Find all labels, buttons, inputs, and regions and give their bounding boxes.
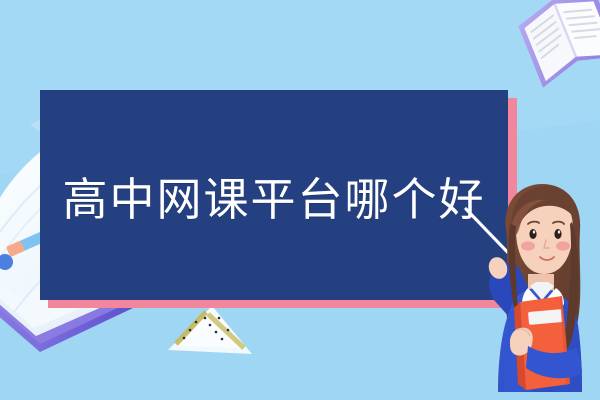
eye-right (554, 229, 561, 239)
poster-banner: 高中网课平台哪个好 (0, 0, 600, 400)
eye-left-glint (533, 230, 535, 233)
cheek-left (521, 241, 535, 250)
eye-left (529, 229, 536, 239)
page-title: 高中网课平台哪个好 (40, 90, 508, 300)
cheek-right (556, 241, 570, 250)
eye-right-glint (558, 230, 560, 233)
